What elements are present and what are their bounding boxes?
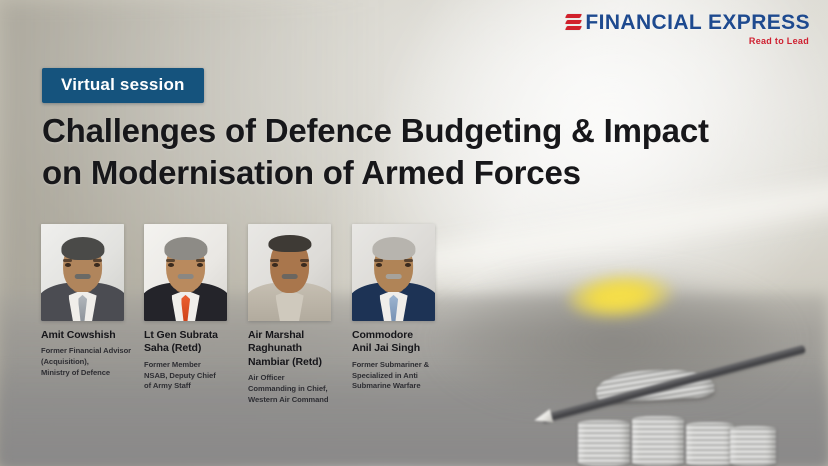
logo-wordmark: FINANCIAL EXPRESS [585,12,810,33]
avatar [41,224,124,321]
avatar [144,224,227,321]
status-badge: Virtual session [42,68,204,103]
speaker-role: Former Member NSAB, Deputy Chief of Army… [144,360,240,392]
speaker-card-3: Air Marshal Raghunath Nambiar (Retd) Air… [248,224,348,406]
avatar [248,224,331,321]
speaker-card-2: Lt Gen Subrata Saha (Retd) Former Member… [144,224,240,392]
slide-stage: FINANCIAL EXPRESS Read to Lead Virtual s… [0,0,828,466]
speaker-name: Lt Gen Subrata Saha (Retd) [144,329,240,356]
coin-stack [632,416,684,466]
fe-mark-icon [566,13,581,32]
page-title-line-1: Challenges of Defence Budgeting & Impact [42,110,782,152]
speaker-card-4: Commodore Anil Jai Singh Former Submarin… [352,224,456,392]
avatar [352,224,435,321]
speaker-role: Former Submariner & Specialized in Anti … [352,360,456,392]
speaker-name: Amit Cowshish [41,329,137,342]
speaker-name: Air Marshal Raghunath Nambiar (Retd) [248,329,348,369]
page-title-line-2: on Modernisation of Armed Forces [42,152,782,194]
speaker-role: Former Financial Advisor (Acquisition), … [41,346,137,378]
logo-tagline: Read to Lead [566,36,809,46]
coin-stack [730,426,776,466]
page-title: Challenges of Defence Budgeting & Impact… [42,110,782,193]
coin-stack [686,422,734,466]
speaker-card-1: Amit Cowshish Former Financial Advisor (… [41,224,137,379]
speaker-list: Amit Cowshish Former Financial Advisor (… [41,224,491,394]
speaker-role: Air Officer Commanding in Chief, Western… [248,373,348,405]
coin-tank-graphic [548,368,810,466]
speaker-name: Commodore Anil Jai Singh [352,329,456,356]
financial-express-logo[interactable]: FINANCIAL EXPRESS Read to Lead [566,12,810,46]
coin-stack [578,420,630,466]
